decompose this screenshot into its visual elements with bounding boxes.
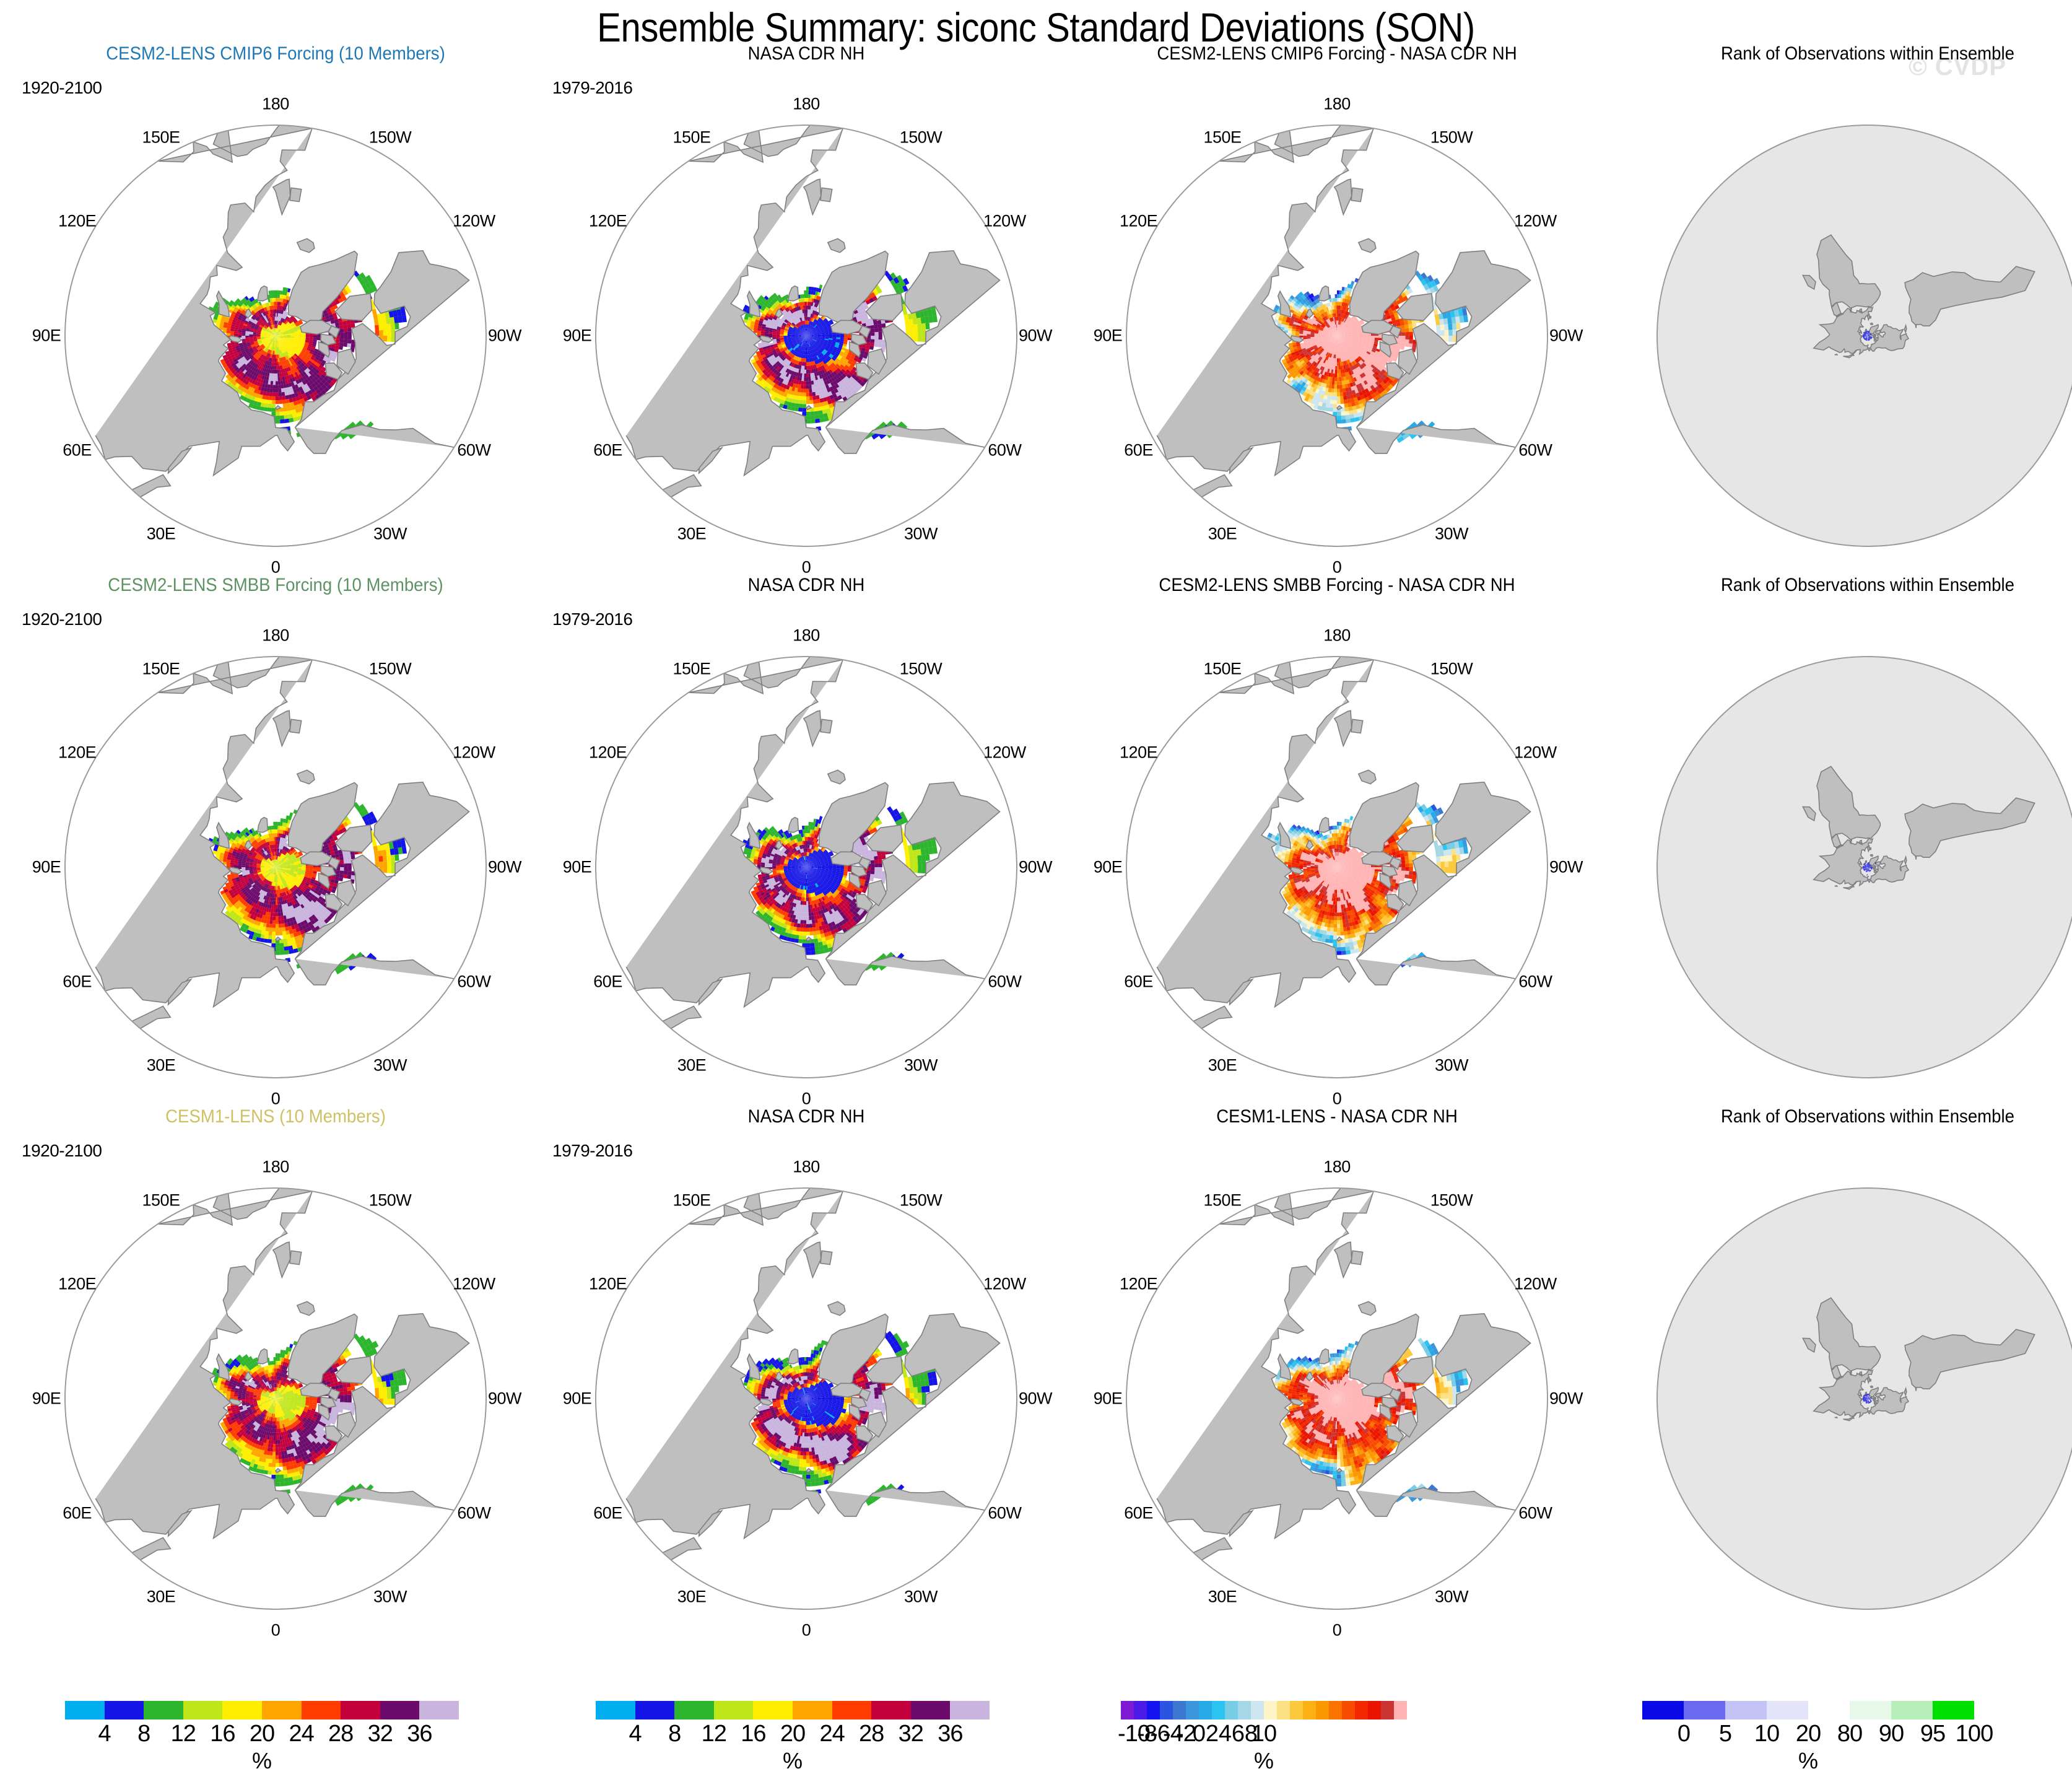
lon-label-120e: 120E (1120, 743, 1157, 762)
lon-label-90e: 90E (32, 858, 61, 877)
colorbar-tick-1: 8 (668, 1721, 681, 1747)
colorbar-segment-9 (1238, 1701, 1251, 1719)
panel-title-rank-of-observations: Rank of Observations within Ensemble (1634, 43, 2072, 64)
colorbar-segment-10 (1251, 1701, 1264, 1719)
colorbar-tick-6: 28 (859, 1721, 884, 1747)
map-model-minus-obs (1118, 116, 1556, 555)
lon-label-90w: 90W (488, 1389, 521, 1409)
lon-label-0: 0 (802, 1090, 811, 1109)
panel-title-observations-std-dev: NASA CDR NH (573, 43, 1040, 64)
panel-rank-of-observations-row2: Rank of Observations within Ensemble (1614, 575, 2072, 1083)
lon-label-30e: 30E (147, 1056, 176, 1075)
lon-label-120e: 120E (58, 743, 96, 762)
colorbar-ticks: -10-8-6-4-20246810 (1121, 1721, 1407, 1749)
period-label: 1920-2100 (22, 1141, 102, 1161)
colorbar-segment-9 (950, 1701, 990, 1719)
lon-label-90e: 90E (563, 858, 592, 877)
panel-title-rank-of-observations: Rank of Observations within Ensemble (1634, 1106, 2072, 1127)
lon-label-60w: 60W (457, 441, 490, 460)
colorbar-tick-5: 90 (1879, 1721, 1904, 1747)
colorbar-tick-8: 36 (407, 1721, 432, 1747)
colorbar-segment-21 (1394, 1701, 1407, 1719)
colorbar-tick-7: 32 (368, 1721, 393, 1747)
colorbar-segment-4 (1173, 1701, 1186, 1719)
lon-label-30e: 30E (147, 525, 176, 544)
colorbar-segment-6 (302, 1701, 341, 1719)
colorbar-segment-5 (262, 1701, 302, 1719)
colorbar-segment-3 (183, 1701, 223, 1719)
colorbar-segment-16 (1329, 1701, 1342, 1719)
lon-label-120e: 120E (1120, 1275, 1157, 1294)
colorbar-tick-1: 8 (137, 1721, 150, 1747)
panel-rank-of-observations-row3: Rank of Observations within Ensemble (1614, 1106, 2072, 1614)
lon-label-150e: 150E (673, 659, 710, 678)
lon-label-30e: 30E (1208, 525, 1237, 544)
lon-label-30w: 30W (373, 525, 407, 544)
colorbar-unit: % (252, 1748, 272, 1774)
map-rank-of-observations (1648, 648, 2072, 1086)
colorbar-segment-4 (1808, 1701, 1850, 1719)
lon-label-60w: 60W (988, 972, 1021, 992)
colorbar-segment-8 (380, 1701, 420, 1719)
panel-title-model-std-dev: CESM1-LENS (10 Members) (42, 1106, 509, 1127)
colorbar-tick-3: 16 (741, 1721, 765, 1747)
colorbar-unit: % (783, 1748, 803, 1774)
lon-label-30w: 30W (373, 1588, 407, 1607)
colorbar-tick-8: 6 (1232, 1721, 1244, 1747)
panel-title-model-std-dev: CESM2-LENS SMBB Forcing (10 Members) (42, 575, 509, 596)
lon-label-90w: 90W (1019, 326, 1052, 346)
lon-label-60w: 60W (457, 1504, 490, 1523)
colorbar-tick-6: 28 (328, 1721, 353, 1747)
lon-label-150e: 150E (142, 659, 180, 678)
colorbar-segment-9 (419, 1701, 459, 1719)
panel-observations-std-dev-row1: NASA CDR NH1979-2016180150W150E120W120E9… (552, 43, 1060, 551)
panel-title-model-minus-obs: CESM2-LENS CMIP6 Forcing - NASA CDR NH (1103, 43, 1570, 64)
lon-label-150w: 150W (1430, 1191, 1473, 1210)
lon-label-120w: 120W (983, 212, 1026, 231)
lon-label-180: 180 (1323, 626, 1351, 645)
panel-model-std-dev-row2: CESM2-LENS SMBB Forcing (10 Members)1920… (22, 575, 529, 1083)
colorbar-segment-12 (1277, 1701, 1290, 1719)
lon-label-30w: 30W (904, 1588, 938, 1607)
lon-label-30w: 30W (1435, 525, 1468, 544)
lon-label-120w: 120W (1514, 212, 1557, 231)
colorbar-tick-2: 10 (1754, 1721, 1779, 1747)
colorbar-tick-7: 100 (1956, 1721, 1993, 1747)
lon-label-150e: 150E (1203, 1191, 1241, 1210)
colorbar-segment-15 (1316, 1701, 1329, 1719)
lon-label-150e: 150E (673, 128, 710, 147)
lon-label-90e: 90E (1094, 1389, 1123, 1409)
colorbar-strip (65, 1701, 459, 1719)
lon-label-90w: 90W (488, 326, 521, 346)
colorbar-segment-6 (1199, 1701, 1212, 1719)
colorbar-tick-5: 0 (1193, 1721, 1205, 1747)
panel-model-minus-obs-row3: CESM1-LENS - NASA CDR NH180150W150E120W1… (1083, 1106, 1591, 1614)
lon-label-90w: 90W (1549, 858, 1583, 877)
lon-label-30w: 30W (1435, 1588, 1468, 1607)
colorbar-segment-0 (596, 1701, 635, 1719)
lon-label-150e: 150E (1203, 128, 1241, 147)
panel-title-observations-std-dev: NASA CDR NH (573, 1106, 1040, 1127)
colorbar-strip (1121, 1701, 1407, 1719)
lon-label-120w: 120W (453, 743, 495, 762)
map-model-minus-obs (1118, 1179, 1556, 1618)
lon-label-150w: 150W (369, 128, 412, 147)
lon-label-120w: 120W (453, 1275, 495, 1294)
lon-label-180: 180 (1323, 95, 1351, 114)
lon-label-60w: 60W (1518, 441, 1552, 460)
map-model-minus-obs (1118, 648, 1556, 1086)
map-rank-of-observations (1648, 116, 2072, 555)
lon-label-150w: 150W (369, 659, 412, 678)
colorbar-segment-4 (222, 1701, 262, 1719)
lon-label-150e: 150E (673, 1191, 710, 1210)
lon-label-90w: 90W (1019, 1389, 1052, 1409)
lon-label-60e: 60E (593, 972, 622, 992)
lon-label-60e: 60E (593, 1504, 622, 1523)
lon-label-30e: 30E (1208, 1056, 1237, 1075)
lon-label-180: 180 (793, 95, 820, 114)
colorbar-tick-5: 24 (819, 1721, 844, 1747)
lon-label-60w: 60W (988, 1504, 1021, 1523)
lon-label-60e: 60E (1124, 1504, 1153, 1523)
colorbar-segment-1 (105, 1701, 144, 1719)
lon-label-120w: 120W (983, 1275, 1026, 1294)
map-model-std-dev (56, 648, 495, 1086)
lon-label-30e: 30E (677, 1056, 707, 1075)
lon-label-120w: 120W (983, 743, 1026, 762)
lon-label-180: 180 (262, 1158, 289, 1177)
colorbar-tick-4: 20 (780, 1721, 805, 1747)
colorbar-segment-1 (635, 1701, 675, 1719)
colorbar-unit: % (1254, 1748, 1274, 1774)
map-observations-std-dev (587, 1179, 1025, 1618)
colorbar-tick-0: 0 (1678, 1721, 1690, 1747)
lon-label-60e: 60E (1124, 441, 1153, 460)
colorbar-segment-3 (1160, 1701, 1173, 1719)
lon-label-30e: 30E (677, 525, 707, 544)
map-model-std-dev (56, 1179, 495, 1618)
colorbar-segment-7 (871, 1701, 911, 1719)
lon-label-60w: 60W (457, 972, 490, 992)
panel-title-model-minus-obs: CESM2-LENS SMBB Forcing - NASA CDR NH (1103, 575, 1570, 596)
period-label: 1979-2016 (552, 78, 632, 98)
lon-label-150w: 150W (900, 1191, 942, 1210)
lon-label-90e: 90E (563, 1389, 592, 1409)
lon-label-90w: 90W (488, 858, 521, 877)
colorbar-segment-18 (1355, 1701, 1368, 1719)
colorbar-tick-10: 10 (1251, 1721, 1276, 1747)
panel-rank-of-observations-row1: Rank of Observations within Ensemble (1614, 43, 2072, 551)
lon-label-150e: 150E (142, 128, 180, 147)
panel-observations-std-dev-row2: NASA CDR NH1979-2016180150W150E120W120E9… (552, 575, 1060, 1083)
colorbar-segment-2 (1147, 1701, 1160, 1719)
lon-label-120w: 120W (453, 212, 495, 231)
lon-label-0: 0 (271, 558, 281, 577)
lon-label-120e: 120E (58, 1275, 96, 1294)
lon-label-30w: 30W (1435, 1056, 1468, 1075)
map-observations-std-dev (587, 648, 1025, 1086)
panel-model-minus-obs-row2: CESM2-LENS SMBB Forcing - NASA CDR NH180… (1083, 575, 1591, 1083)
period-label: 1979-2016 (552, 1141, 632, 1161)
map-model-std-dev (56, 116, 495, 555)
colorbar-tick-4: 20 (250, 1721, 274, 1747)
lon-label-120w: 120W (1514, 1275, 1557, 1294)
lon-label-90e: 90E (563, 326, 592, 346)
colorbar-segment-11 (1264, 1701, 1277, 1719)
lon-label-0: 0 (1333, 1090, 1342, 1109)
colorbar-segment-0 (1121, 1701, 1134, 1719)
lon-label-0: 0 (271, 1090, 281, 1109)
colorbar-segment-7 (1933, 1701, 1974, 1719)
colorbar-tick-6: 2 (1206, 1721, 1218, 1747)
colorbar-segment-8 (911, 1701, 951, 1719)
lon-label-0: 0 (802, 1621, 811, 1640)
colorbar-tick-8: 36 (938, 1721, 962, 1747)
colorbar-tick-2: 12 (171, 1721, 196, 1747)
lon-label-60e: 60E (63, 1504, 92, 1523)
period-label: 1920-2100 (22, 610, 102, 629)
colorbar-segment-2 (144, 1701, 183, 1719)
lon-label-30w: 30W (373, 1056, 407, 1075)
colorbar-segment-1 (1684, 1701, 1725, 1719)
colorbar-segment-0 (65, 1701, 105, 1719)
colorbar-tick-4: 80 (1837, 1721, 1862, 1747)
panel-model-minus-obs-row1: CESM2-LENS CMIP6 Forcing - NASA CDR NH18… (1083, 43, 1591, 551)
colorbar-tick-0: 4 (98, 1721, 111, 1747)
colorbar-ticks: 4812162024283236 (65, 1721, 459, 1749)
colorbar-strip (596, 1701, 990, 1719)
colorbar-segment-13 (1290, 1701, 1303, 1719)
colorbar-segment-3 (714, 1701, 754, 1719)
lon-label-90w: 90W (1549, 326, 1583, 346)
lon-label-180: 180 (1323, 1158, 1351, 1177)
colorbar-segment-5 (1186, 1701, 1199, 1719)
lon-label-180: 180 (793, 626, 820, 645)
lon-label-60e: 60E (593, 441, 622, 460)
lon-label-180: 180 (793, 1158, 820, 1177)
lon-label-60e: 60E (63, 441, 92, 460)
colorbar-segment-8 (1225, 1701, 1238, 1719)
colorbar-segment-6 (832, 1701, 872, 1719)
colorbar-segment-4 (753, 1701, 793, 1719)
lon-label-30w: 30W (904, 525, 938, 544)
lon-label-90w: 90W (1019, 858, 1052, 877)
colorbar-tick-2: 12 (702, 1721, 726, 1747)
panel-title-model-std-dev: CESM2-LENS CMIP6 Forcing (10 Members) (42, 43, 509, 64)
map-rank-of-observations (1648, 1179, 2072, 1618)
map-observations-std-dev (587, 116, 1025, 555)
lon-label-150w: 150W (1430, 128, 1473, 147)
lon-label-150w: 150W (1430, 659, 1473, 678)
period-label: 1979-2016 (552, 610, 632, 629)
period-label: 1920-2100 (22, 78, 102, 98)
lon-label-120e: 120E (1120, 212, 1157, 231)
lon-label-30w: 30W (904, 1056, 938, 1075)
lon-label-150w: 150W (369, 1191, 412, 1210)
colorbar-segment-7 (341, 1701, 380, 1719)
colorbar-tick-3: 20 (1796, 1721, 1821, 1747)
colorbar-segment-1 (1134, 1701, 1147, 1719)
lon-label-60w: 60W (988, 441, 1021, 460)
lon-label-60w: 60W (1518, 1504, 1552, 1523)
lon-label-60w: 60W (1518, 972, 1552, 992)
lon-label-120w: 120W (1514, 743, 1557, 762)
panel-title-rank-of-observations: Rank of Observations within Ensemble (1634, 575, 2072, 596)
lon-label-60e: 60E (1124, 972, 1153, 992)
colorbar-segment-19 (1368, 1701, 1381, 1719)
colorbar-segment-5 (793, 1701, 832, 1719)
colorbar-tick-5: 24 (289, 1721, 313, 1747)
panel-observations-std-dev-row3: NASA CDR NH1979-2016180150W150E120W120E9… (552, 1106, 1060, 1614)
colorbar-ticks: 4812162024283236 (596, 1721, 990, 1749)
lon-label-180: 180 (262, 626, 289, 645)
colorbar-strip (1642, 1701, 1974, 1719)
colorbar-segment-2 (674, 1701, 714, 1719)
lon-label-90e: 90E (32, 326, 61, 346)
colorbar-segment-5 (1850, 1701, 1891, 1719)
lon-label-120e: 120E (589, 743, 627, 762)
lon-label-60e: 60E (63, 972, 92, 992)
colorbar-segment-7 (1212, 1701, 1225, 1719)
colorbar-ticks: 051020809095100 (1642, 1721, 1974, 1749)
lon-label-90e: 90E (1094, 326, 1123, 346)
colorbar-tick-6: 95 (1920, 1721, 1945, 1747)
panel-title-model-minus-obs: CESM1-LENS - NASA CDR NH (1103, 1106, 1570, 1127)
colorbar-segment-6 (1891, 1701, 1933, 1719)
lon-label-0: 0 (1333, 1621, 1342, 1640)
lon-label-150e: 150E (142, 1191, 180, 1210)
lon-label-90w: 90W (1549, 1389, 1583, 1409)
lon-label-0: 0 (271, 1621, 281, 1640)
lon-label-150e: 150E (1203, 659, 1241, 678)
lon-label-90e: 90E (1094, 858, 1123, 877)
colorbar-tick-7: 4 (1219, 1721, 1231, 1747)
lon-label-180: 180 (262, 95, 289, 114)
lon-label-0: 0 (1333, 558, 1342, 577)
lon-label-30e: 30E (147, 1588, 176, 1607)
colorbar-segment-3 (1767, 1701, 1808, 1719)
colorbar-tick-1: 5 (1719, 1721, 1731, 1747)
colorbar-segment-0 (1642, 1701, 1684, 1719)
lon-label-120e: 120E (589, 212, 627, 231)
colorbar-segment-2 (1725, 1701, 1767, 1719)
panel-model-std-dev-row1: CESM2-LENS CMIP6 Forcing (10 Members)192… (22, 43, 529, 551)
colorbar-tick-3: 16 (210, 1721, 235, 1747)
panel-title-observations-std-dev: NASA CDR NH (573, 575, 1040, 596)
colorbar-unit: % (1798, 1748, 1818, 1774)
lon-label-30e: 30E (1208, 1588, 1237, 1607)
lon-label-150w: 150W (900, 659, 942, 678)
lon-label-90e: 90E (32, 1389, 61, 1409)
lon-label-30e: 30E (677, 1588, 707, 1607)
colorbar-tick-7: 32 (899, 1721, 923, 1747)
lon-label-0: 0 (802, 558, 811, 577)
lon-label-150w: 150W (900, 128, 942, 147)
colorbar-tick-0: 4 (629, 1721, 642, 1747)
panel-model-std-dev-row3: CESM1-LENS (10 Members)1920-2100180150W1… (22, 1106, 529, 1614)
lon-label-120e: 120E (589, 1275, 627, 1294)
colorbar-segment-17 (1342, 1701, 1355, 1719)
colorbar-segment-20 (1381, 1701, 1394, 1719)
lon-label-120e: 120E (58, 212, 96, 231)
colorbar-segment-14 (1303, 1701, 1316, 1719)
